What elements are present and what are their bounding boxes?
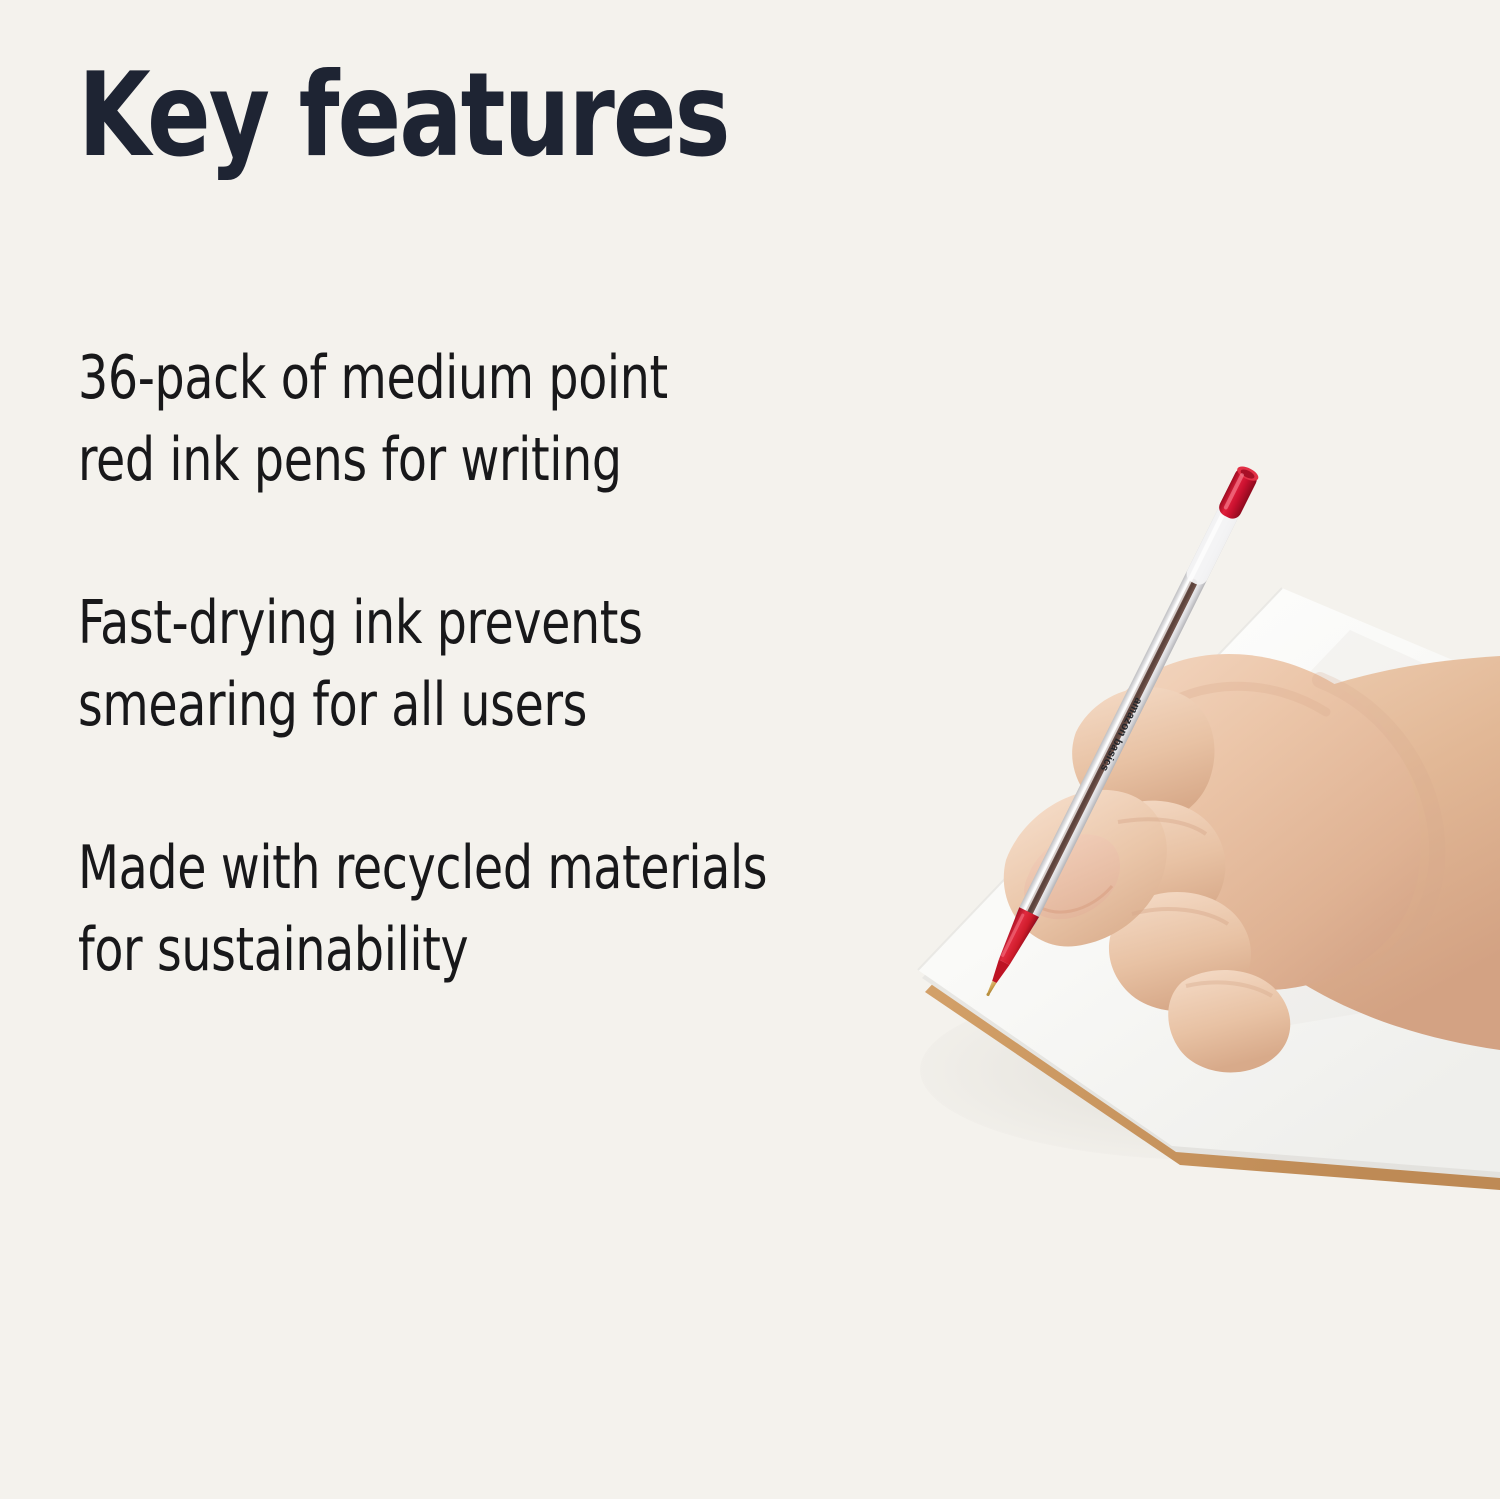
pen-barrel-highlight bbox=[1021, 510, 1227, 917]
pen-tip bbox=[994, 907, 1039, 967]
feature-item: Fast-drying ink prevents smearing for al… bbox=[78, 583, 852, 746]
feature-list: 36-pack of medium point red ink pens for… bbox=[78, 338, 958, 992]
product-photo: amazon basics bbox=[880, 430, 1500, 1220]
page-title: Key features bbox=[78, 58, 729, 174]
pen-body: amazon basics bbox=[977, 464, 1260, 1001]
infographic-canvas: Key features 36-pack of medium point red… bbox=[0, 0, 1500, 1499]
feature-item: 36-pack of medium point red ink pens for… bbox=[78, 338, 852, 501]
feature-item: Made with recycled materials for sustain… bbox=[78, 828, 852, 991]
ballpoint-pen: amazon basics bbox=[880, 430, 1500, 1220]
text-column: Key features 36-pack of medium point red… bbox=[78, 0, 978, 1499]
